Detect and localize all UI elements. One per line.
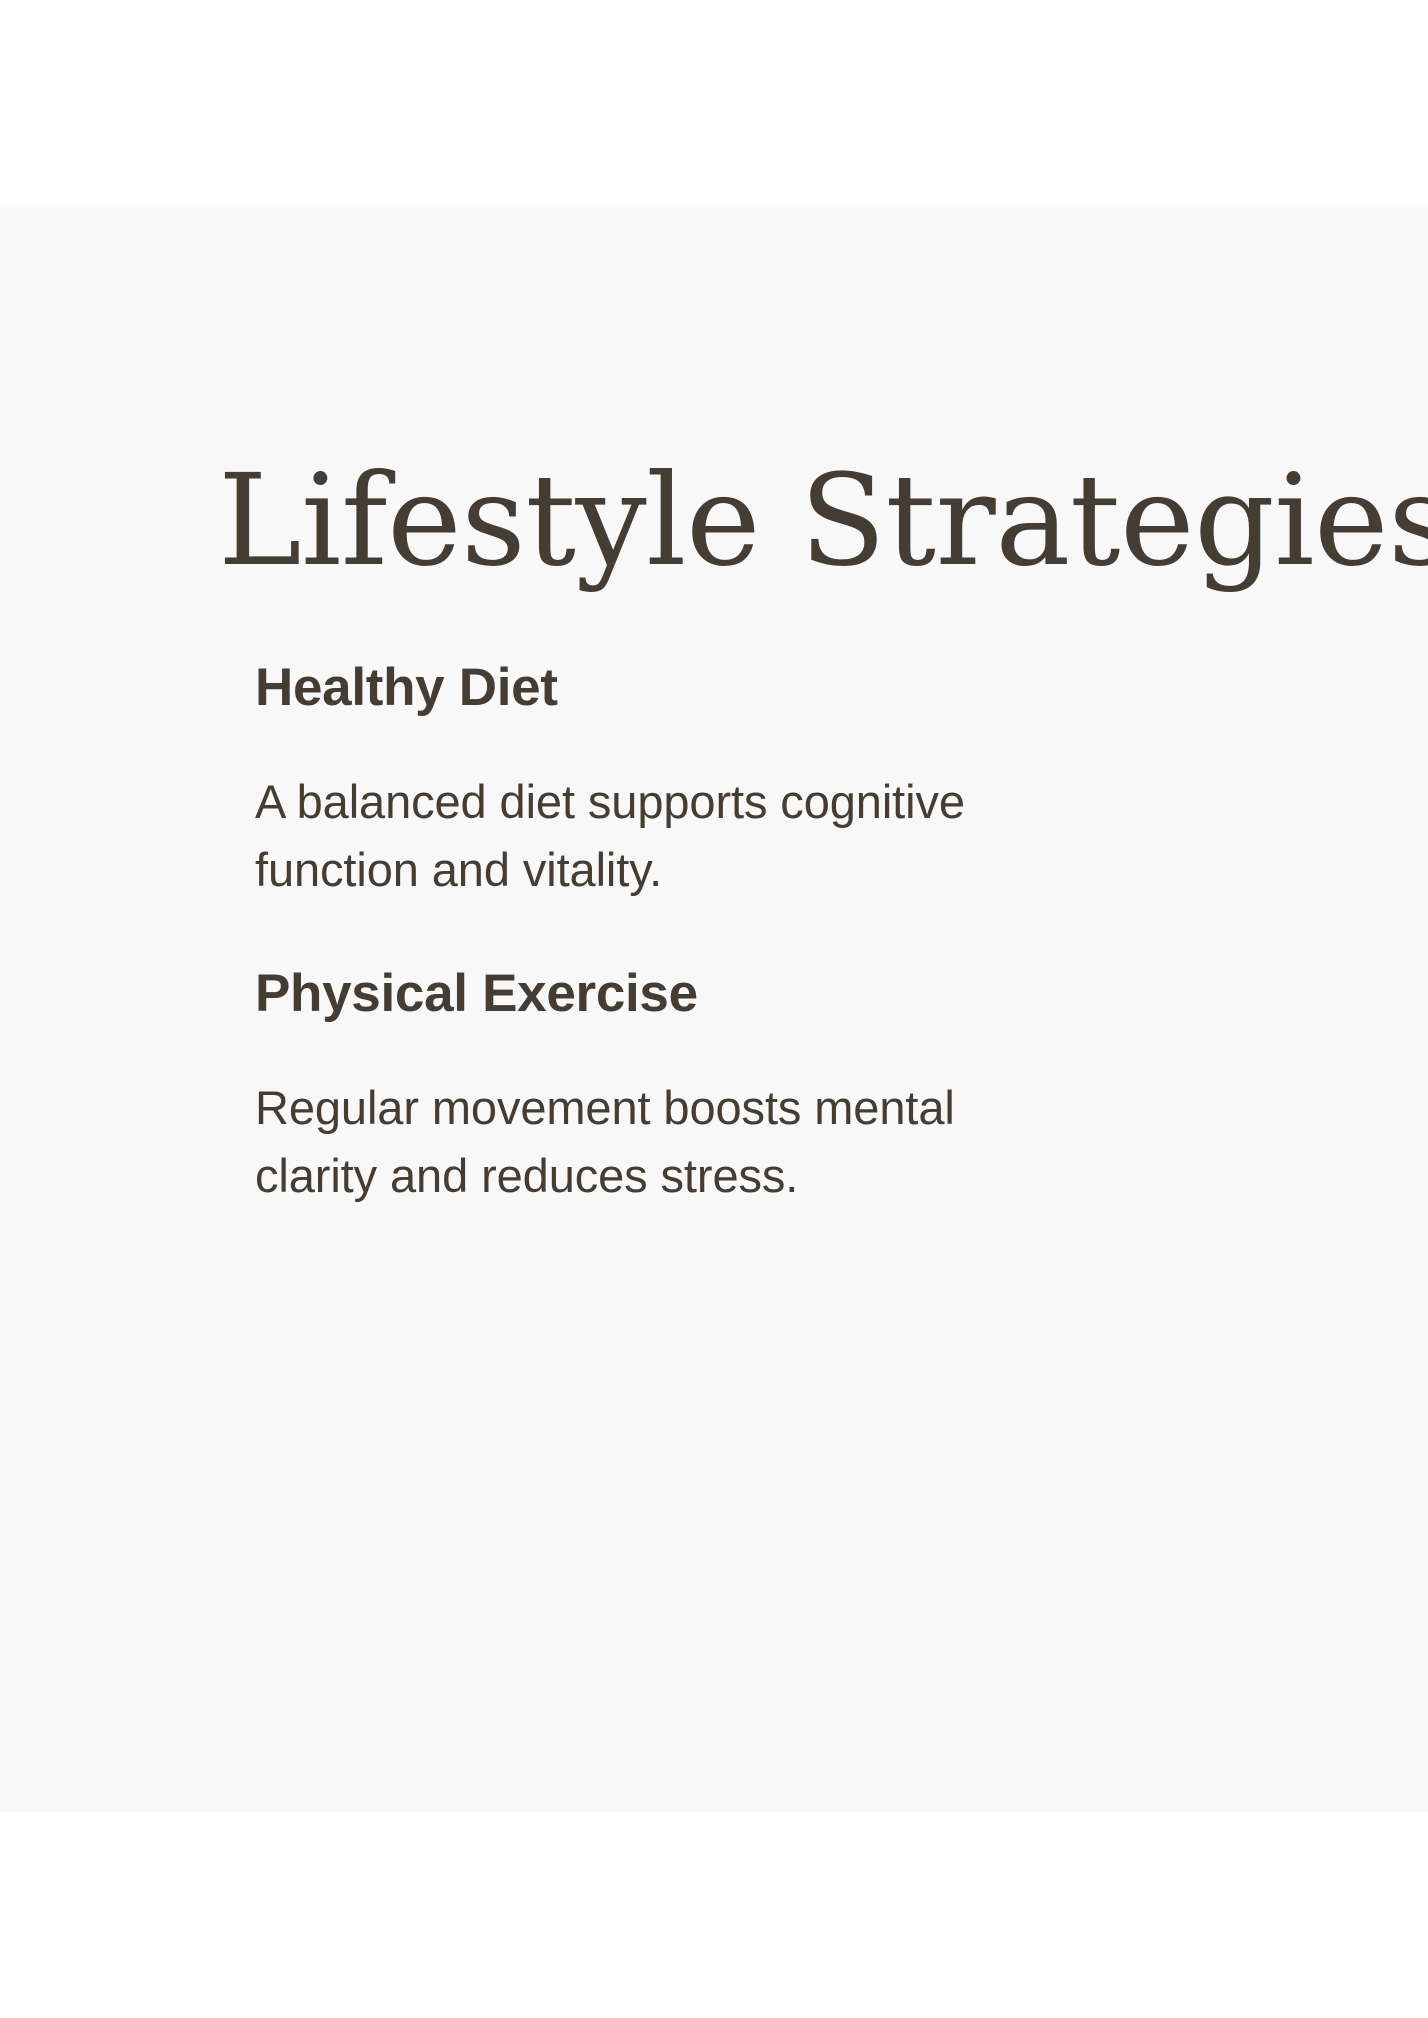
section-body-healthy-diet: A balanced diet supports cognitive funct… bbox=[255, 768, 1045, 904]
slide-root: Lifestyle Strategies Healthy Diet A bala… bbox=[0, 0, 1428, 2018]
section-healthy-diet: Healthy Diet A balanced diet supports co… bbox=[255, 660, 1055, 904]
section-heading-healthy-diet: Healthy Diet bbox=[255, 660, 1055, 716]
section-heading-physical-exercise: Physical Exercise bbox=[255, 966, 1055, 1022]
page-title: Lifestyle Strategies bbox=[218, 449, 1428, 594]
body-column: Healthy Diet A balanced diet supports co… bbox=[255, 660, 1055, 1210]
content-panel: Lifestyle Strategies Healthy Diet A bala… bbox=[0, 205, 1428, 1812]
section-body-physical-exercise: Regular movement boosts mental clarity a… bbox=[255, 1074, 1045, 1210]
section-physical-exercise: Physical Exercise Regular movement boost… bbox=[255, 966, 1055, 1210]
